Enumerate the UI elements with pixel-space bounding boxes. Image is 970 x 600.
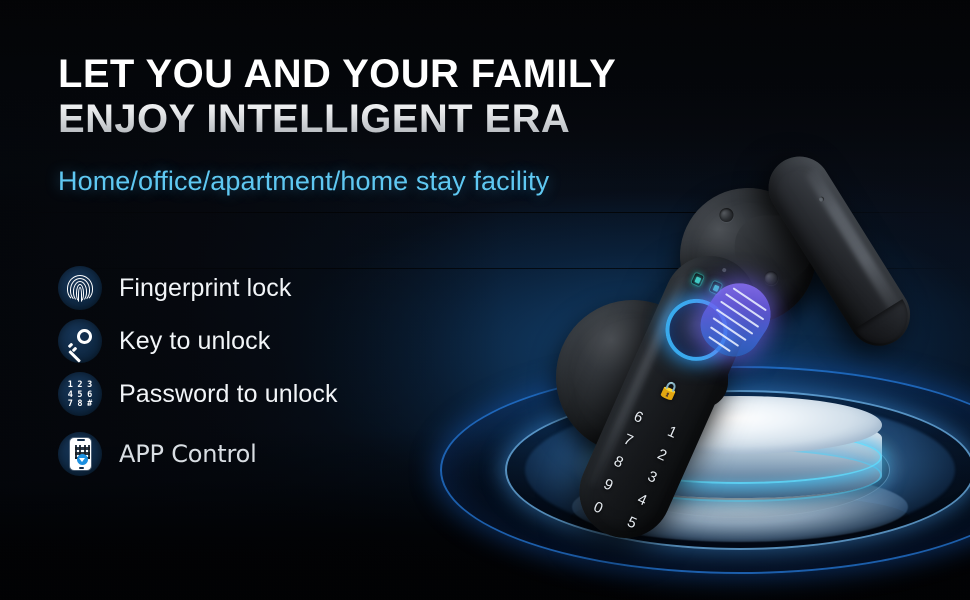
background-grain [0, 0, 970, 600]
product-banner: 🔒 6 1 7 2 8 3 9 4 0 5 LET YOU AND YOUR F… [0, 0, 970, 600]
